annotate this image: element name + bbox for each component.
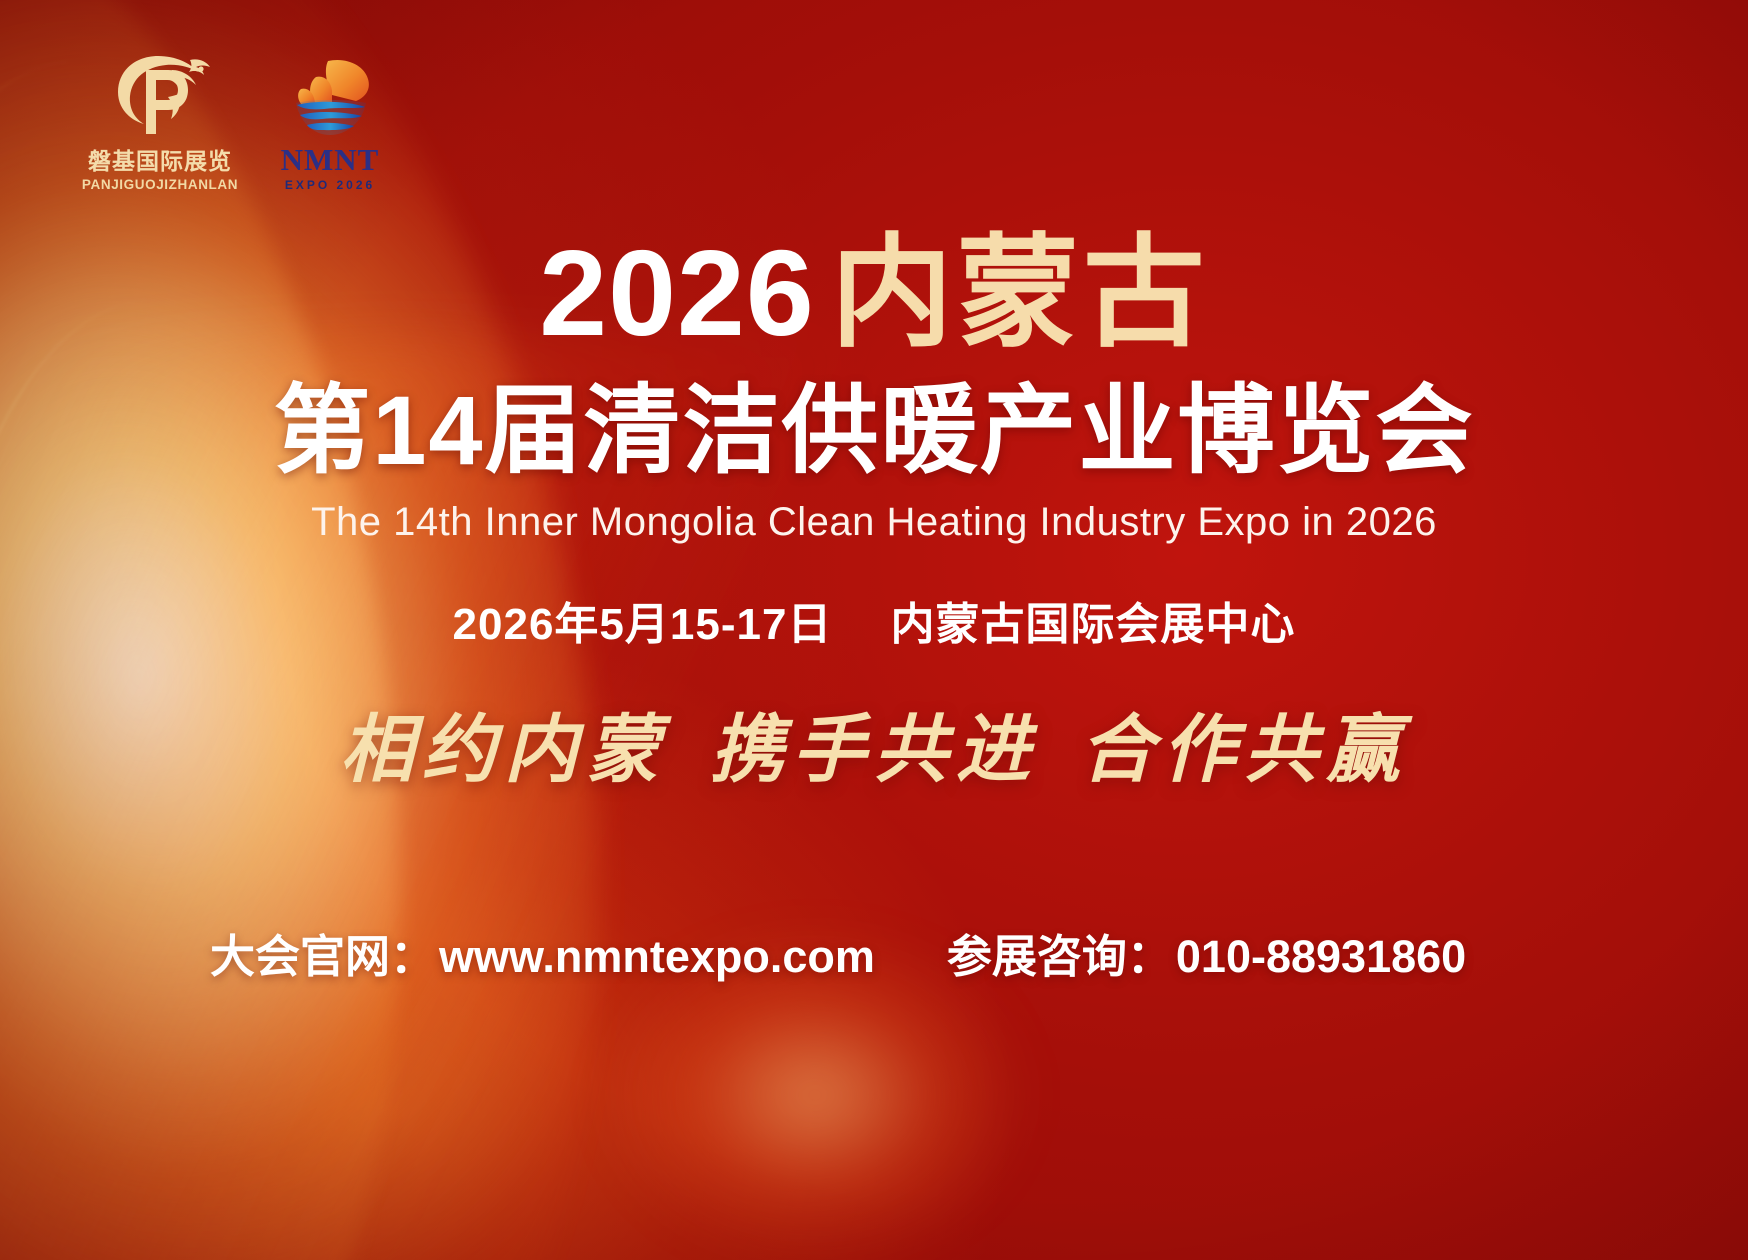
nmnt-wordmark: NMNT <box>281 144 380 175</box>
logo-nmnt-expo: NMNT EXPO 2026 <box>270 55 390 192</box>
panji-cn-name: 磐基国际展览 <box>88 142 232 176</box>
slogan-part-1: 相约内蒙 <box>340 707 668 793</box>
nmnt-expo-year: EXPO 2026 <box>285 178 375 192</box>
hero-title-cn: 第14届清洁供暖产业博览会 <box>0 382 1748 479</box>
enquiry-label: 参展咨询： <box>947 920 1172 985</box>
contact-row: 大会官网：www.nmntexpo.com 参展咨询：010-88931860 <box>210 920 1466 985</box>
logo-bar: 磐基国际展览 PANJIGUOJIZHANLAN <box>80 48 390 192</box>
hero-region: 内蒙古 <box>831 225 1209 361</box>
enquiry-phone[interactable]: 010-88931860 <box>1176 931 1466 983</box>
website-value[interactable]: www.nmntexpo.com <box>439 931 875 983</box>
expo-promo-banner: 磐基国际展览 PANJIGUOJIZHANLAN <box>0 0 1748 1260</box>
dragon-p-monogram-icon <box>106 48 214 140</box>
sun-mountain-water-icon <box>284 55 376 141</box>
website-label: 大会官网： <box>210 920 435 985</box>
hero-title-line1: 2026内蒙古 <box>0 232 1748 354</box>
slogan-part-2: 携手共进 <box>710 707 1038 793</box>
website-block: 大会官网：www.nmntexpo.com <box>210 920 875 985</box>
slogan-part-3: 合作共赢 <box>1080 707 1408 793</box>
hero-date: 2026年5月15-17日 <box>453 600 833 649</box>
hero-date-venue-row: 2026年5月15-17日内蒙古国际会展中心 <box>0 588 1748 652</box>
hero-venue: 内蒙古国际会展中心 <box>890 600 1295 649</box>
panji-en-name: PANJIGUOJIZHANLAN <box>82 177 238 192</box>
hero-year: 2026 <box>539 225 814 361</box>
logo-panji-international-exhibition: 磐基国际展览 PANJIGUOJIZHANLAN <box>80 48 240 192</box>
hero-slogan: 相约内蒙携手共进合作共赢 <box>0 690 1748 797</box>
hero-title-en: The 14th Inner Mongolia Clean Heating In… <box>0 500 1748 545</box>
enquiry-block: 参展咨询：010-88931860 <box>947 920 1466 985</box>
